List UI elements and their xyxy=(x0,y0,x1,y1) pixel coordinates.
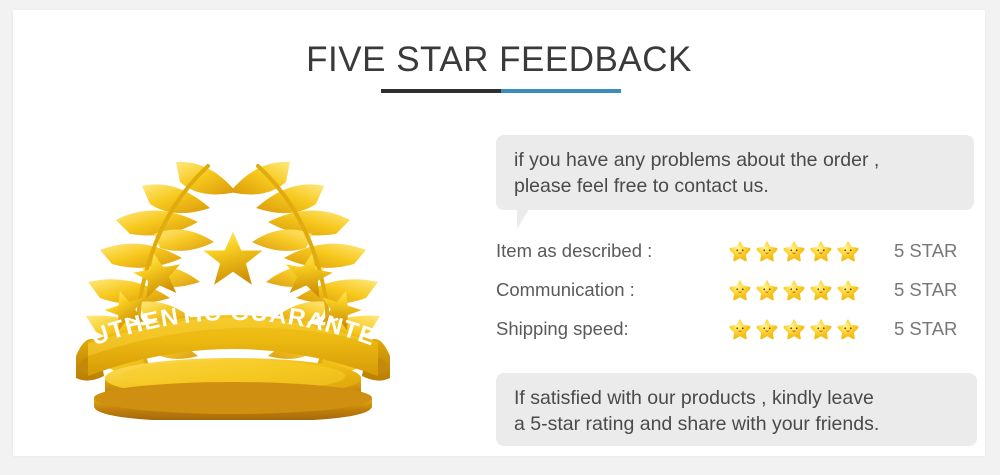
star-icon xyxy=(729,279,751,301)
feedback-card: FIVE STAR FEEDBACK xyxy=(13,10,985,456)
rating-value-shipping-speed: 5 STAR xyxy=(894,318,957,340)
speech-bubble-tail xyxy=(517,209,529,229)
rating-label-item-as-described: Item as described : xyxy=(496,240,652,262)
ratings-list: Item as described : 5 STAR Communication… xyxy=(479,231,979,348)
rating-request-line-2: a 5-star rating and share with your frie… xyxy=(514,411,959,437)
emblem-base xyxy=(94,358,372,420)
rating-label-shipping-speed: Shipping speed: xyxy=(496,318,629,340)
rating-stars-item-as-described xyxy=(729,240,859,262)
rating-value-item-as-described: 5 STAR xyxy=(894,240,957,262)
title-underline-dark-segment xyxy=(381,89,501,93)
page-title: FIVE STAR FEEDBACK xyxy=(13,38,985,82)
star-icon xyxy=(756,279,778,301)
title-underline xyxy=(381,89,621,93)
rating-stars-shipping-speed xyxy=(729,318,859,340)
star-icon xyxy=(729,240,751,262)
star-icon xyxy=(810,318,832,340)
star-icon xyxy=(837,279,859,301)
rating-request-line-1: If satisfied with our products , kindly … xyxy=(514,385,959,411)
star-icon xyxy=(783,318,805,340)
star-icon xyxy=(783,240,805,262)
authentic-guarantee-emblem: AUTHENTIC GUARANTEE xyxy=(58,130,408,420)
rating-value-communication: 5 STAR xyxy=(894,279,957,301)
star-icon xyxy=(837,318,859,340)
rating-request-bubble: If satisfied with our products , kindly … xyxy=(496,373,977,446)
star-icon xyxy=(837,240,859,262)
contact-message-line-1: if you have any problems about the order… xyxy=(514,147,956,173)
rating-row: Communication : 5 STAR xyxy=(479,270,979,309)
star-icon xyxy=(756,240,778,262)
title-underline-blue-segment xyxy=(501,89,621,93)
star-icon xyxy=(810,279,832,301)
contact-message-line-2: please feel free to contact us. xyxy=(514,173,956,199)
star-icon xyxy=(756,318,778,340)
rating-label-communication: Communication : xyxy=(496,279,635,301)
contact-message-bubble: if you have any problems about the order… xyxy=(496,135,974,210)
star-icon xyxy=(783,279,805,301)
rating-row: Shipping speed: 5 STAR xyxy=(479,309,979,348)
feedback-content-column: if you have any problems about the order… xyxy=(479,123,979,443)
rating-row: Item as described : 5 STAR xyxy=(479,231,979,270)
title-block: FIVE STAR FEEDBACK xyxy=(13,38,985,82)
star-icon xyxy=(810,240,832,262)
star-icon xyxy=(729,318,751,340)
rating-stars-communication xyxy=(729,279,859,301)
